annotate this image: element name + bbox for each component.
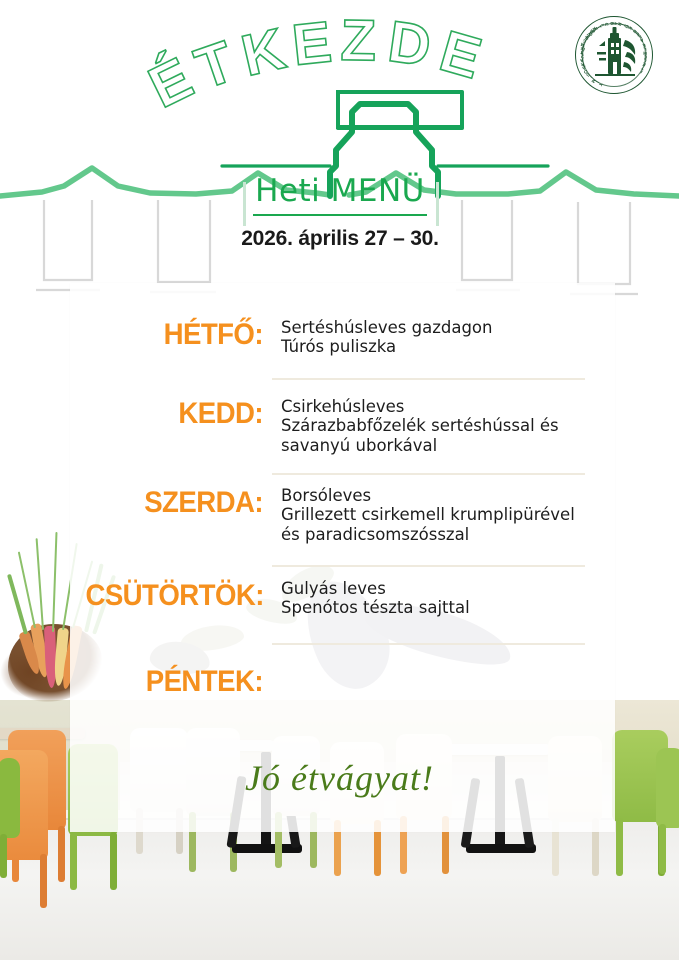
menu-subtitle: Heti MENÜ (230, 176, 450, 207)
row-separator (272, 378, 585, 380)
row-separator (272, 643, 585, 645)
menu-subtitle-rule (253, 214, 427, 216)
row-separator (272, 473, 585, 475)
seal-caption: L I C E U L T E O R E T I C B A R T Ó K … (575, 16, 653, 94)
dish-item: Csirkehúsleves (281, 397, 611, 416)
title-letter: D (384, 8, 435, 80)
day-label-kedd: KEDD: (85, 397, 263, 431)
dish-item: Szárazbabfőzelék sertéshússal és savanyú… (281, 416, 611, 455)
menu-list: HÉTFŐ: Sertéshúsleves gazdagon Túrós pul… (70, 283, 615, 832)
day-label-szerda: SZERDA: (85, 486, 263, 520)
dish-list-hetfo: Sertéshúsleves gazdagon Túrós puliszka (281, 318, 611, 357)
dish-item: Spenótos tészta sajttal (281, 598, 611, 617)
school-seal: L I C E U L T E O R E T I C B A R T Ó K … (575, 16, 653, 94)
dish-list-csutortok: Gulyás leves Spenótos tészta sajttal (281, 579, 611, 618)
row-separator (272, 565, 585, 567)
bon-appetit-text: Jó étvágyat! (0, 757, 679, 799)
menu-date-range: 2026. április 27 – 30. (230, 227, 450, 251)
carrot-top (36, 538, 44, 630)
dish-item: Túrós puliszka (281, 337, 611, 356)
day-label-pentek: PÉNTEK: (85, 665, 263, 699)
dish-item: Grillezett csirkemell krumplipürével és … (281, 505, 611, 544)
menu-poster: É T K E Z D E ÉTKEZDE (0, 0, 679, 960)
title-letter: Z (340, 7, 377, 75)
carrot-top (52, 532, 57, 632)
dish-item: Gulyás leves (281, 579, 611, 598)
dish-list-kedd: Csirkehúsleves Szárazbabfőzelék sertéshú… (281, 397, 611, 455)
day-label-csutortok: CSÜTÖRTÖK: (85, 579, 263, 613)
dish-item: Borsóleves (281, 486, 611, 505)
day-label-hetfo: HÉTFŐ: (85, 318, 263, 352)
dish-list-szerda: Borsóleves Grillezett csirkemell krumpli… (281, 486, 611, 544)
title-letter: E (289, 8, 334, 79)
dish-item: Sertéshúsleves gazdagon (281, 318, 611, 337)
title-letter: E (433, 17, 489, 92)
title-letter: K (235, 15, 291, 90)
menu-heading-block: Heti MENÜ 2026. április 27 – 30. (230, 176, 450, 251)
